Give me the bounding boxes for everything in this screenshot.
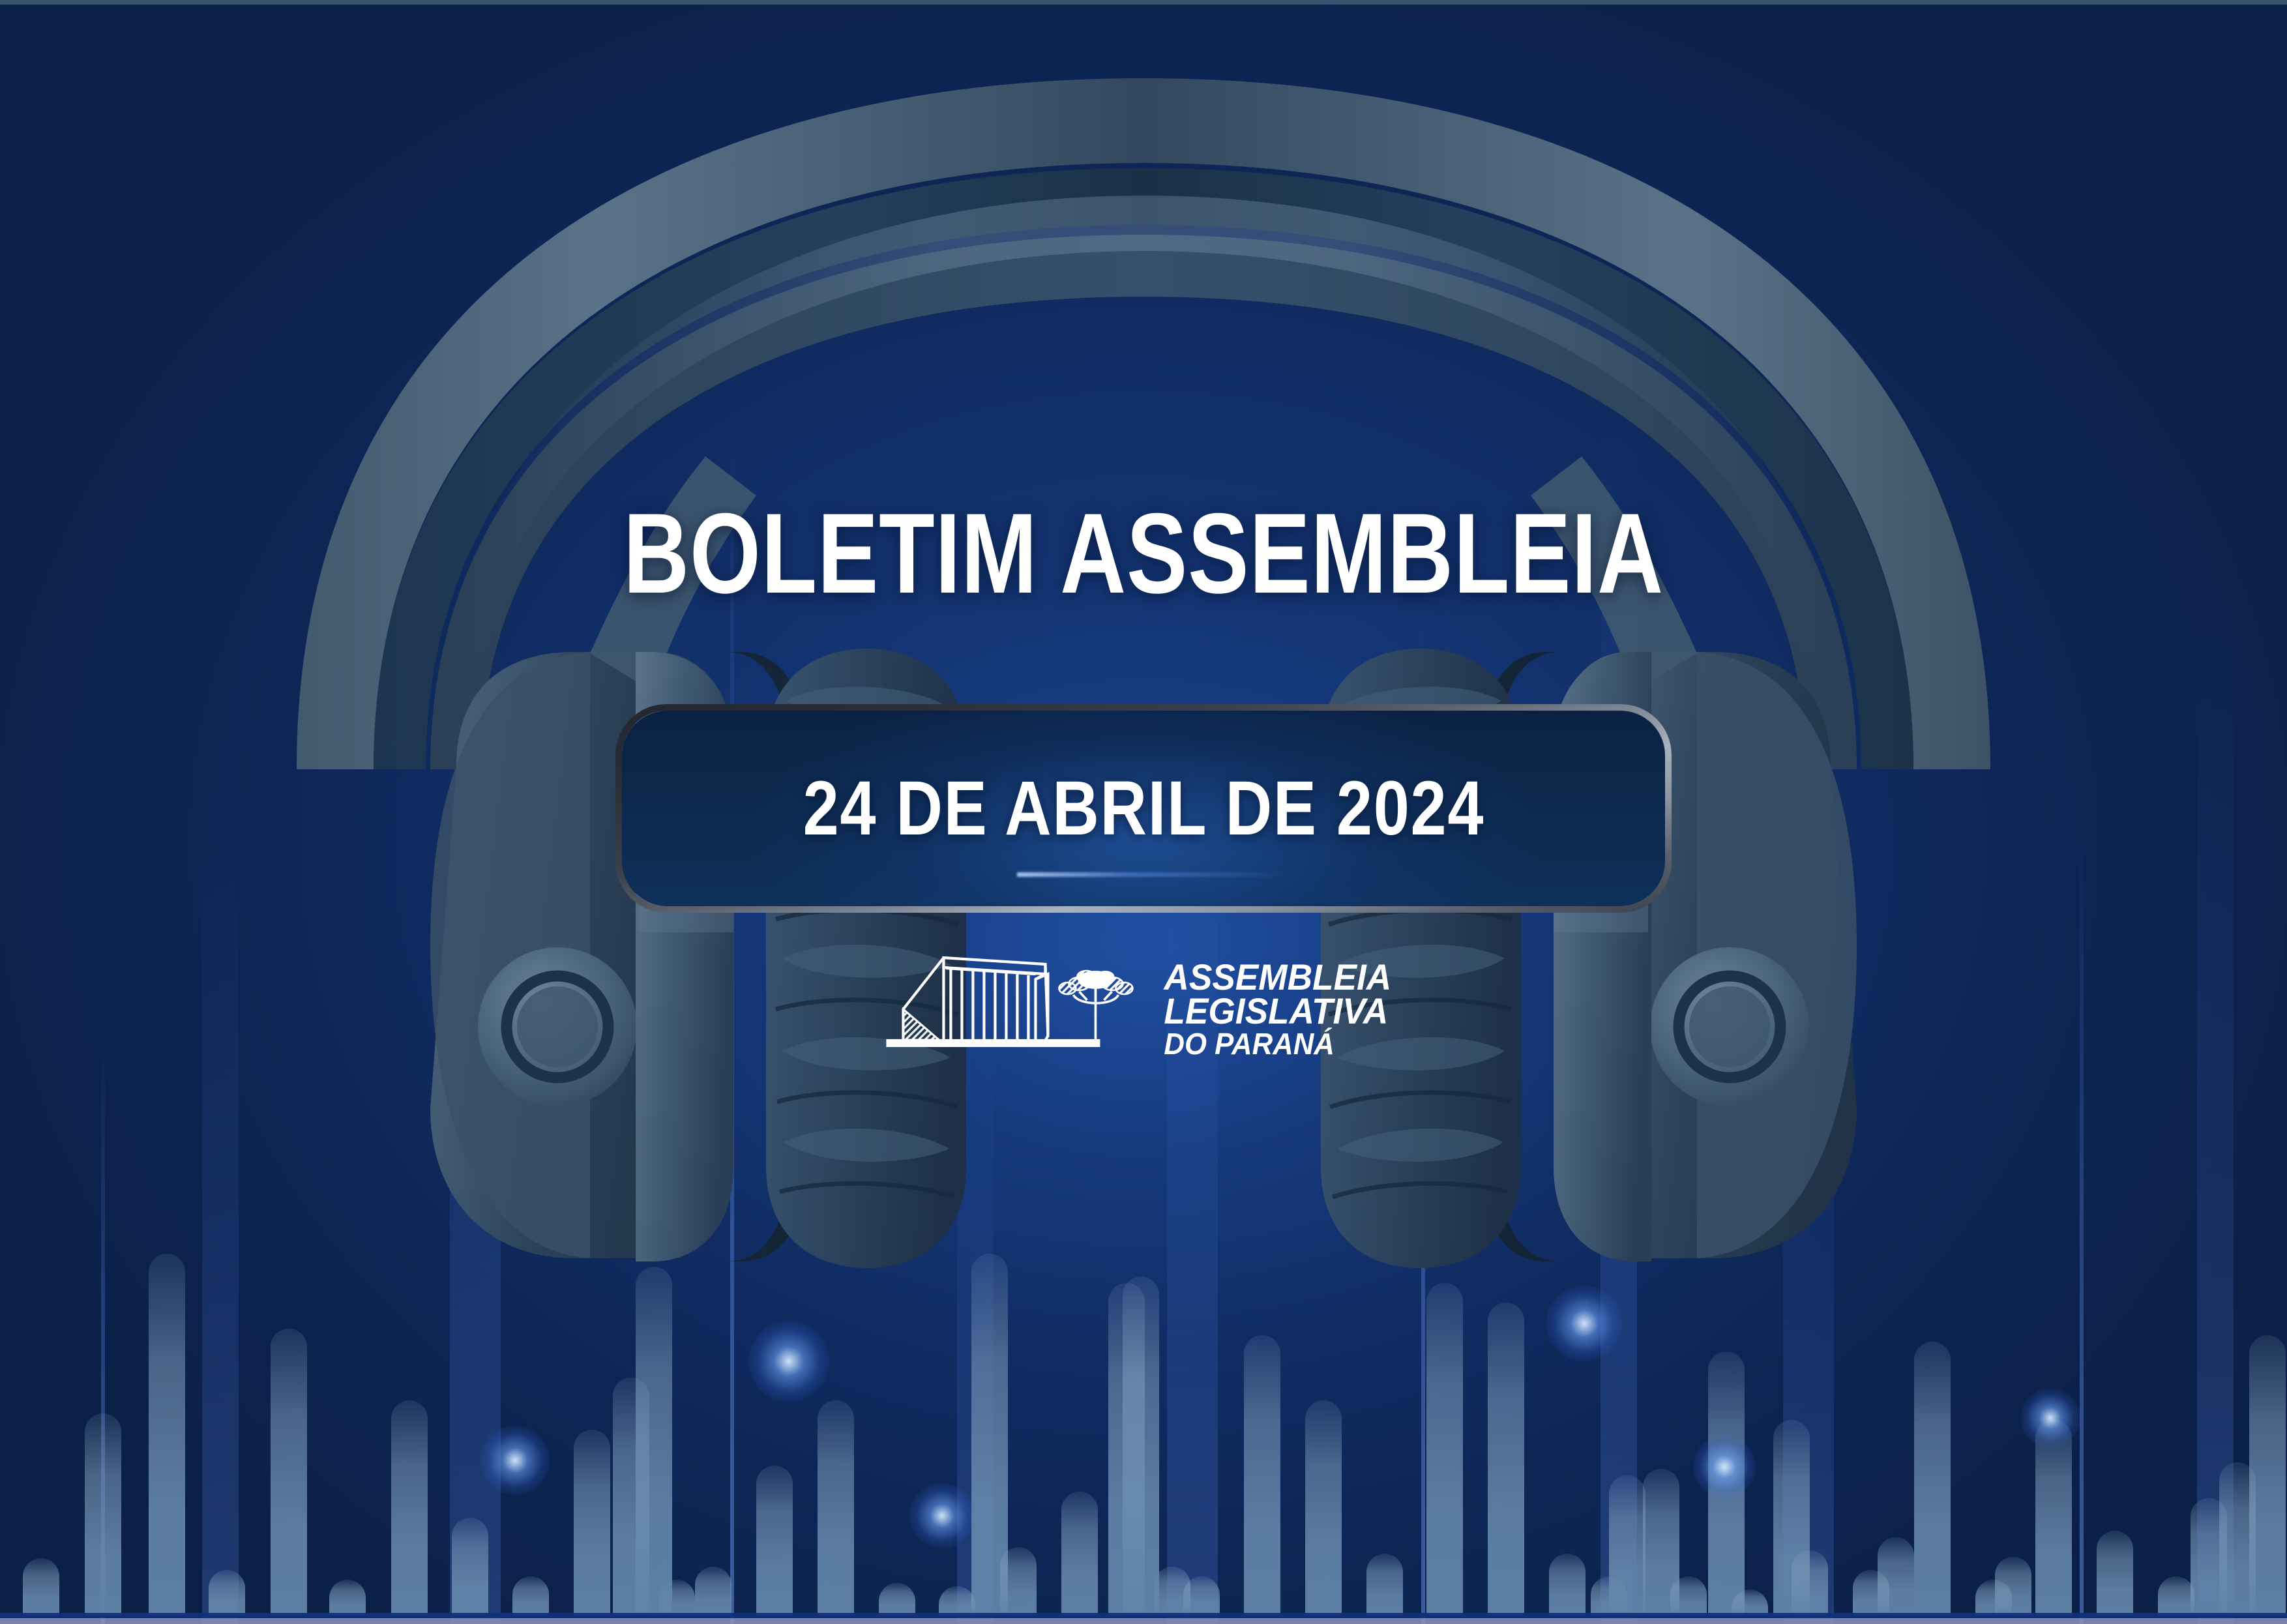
equalizer-bar bbox=[1708, 1351, 1745, 1616]
equalizer-bar bbox=[2097, 1531, 2133, 1616]
equalizer-bar bbox=[1609, 1475, 1645, 1616]
equalizer-bar bbox=[1670, 1576, 1707, 1616]
page-title: BOLETIM ASSEMBLEIA bbox=[229, 497, 2058, 611]
badge-glow-beam-right bbox=[1017, 872, 1291, 877]
equalizer-bar bbox=[1366, 1554, 1403, 1616]
date-badge-border bbox=[615, 704, 1672, 913]
equalizer-bar bbox=[2035, 1420, 2072, 1616]
equalizer-bar bbox=[1549, 1554, 1586, 1616]
equalizer-bar bbox=[2158, 1576, 2194, 1616]
equalizer-bar bbox=[271, 1329, 307, 1616]
equalizer-bar bbox=[756, 1466, 793, 1616]
equalizer-bar bbox=[452, 1518, 488, 1616]
equalizer-bar bbox=[1914, 1342, 1951, 1616]
equalizer-bar bbox=[391, 1400, 428, 1616]
equalizer-bar bbox=[1305, 1400, 1342, 1616]
assembleia-logo: ASSEMBLEIA LEGISLATIVA DO PARANÁ bbox=[883, 944, 1403, 1074]
equalizer-bar bbox=[1792, 1550, 1828, 1616]
equalizer-bar bbox=[1488, 1303, 1524, 1616]
equalizer-bar bbox=[1061, 1492, 1098, 1616]
equalizer-bar bbox=[939, 1586, 975, 1616]
equalizer-bar bbox=[818, 1400, 854, 1616]
audio-equalizer-bars bbox=[0, 1168, 2287, 1624]
equalizer-bar bbox=[209, 1570, 245, 1616]
equalizer-bar bbox=[512, 1576, 549, 1616]
equalizer-bar bbox=[1853, 1570, 1889, 1616]
equalizer-bar bbox=[85, 1413, 121, 1616]
logo-line-2: LEGISLATIVA bbox=[1164, 994, 1391, 1028]
assembleia-building-icon bbox=[883, 944, 1139, 1074]
equalizer-bar bbox=[879, 1583, 915, 1616]
date-badge: 24 DE ABRIL DE 2024 bbox=[615, 704, 1672, 913]
equalizer-bar bbox=[574, 1430, 610, 1616]
logo-line-1: ASSEMBLEIA bbox=[1164, 960, 1391, 994]
equalizer-bar bbox=[636, 1267, 672, 1616]
equalizer-bar bbox=[2219, 1462, 2256, 1616]
equalizer-bar bbox=[1426, 1283, 1463, 1616]
logo-line-3: DO PARANÁ bbox=[1164, 1030, 1391, 1058]
equalizer-baseline-light bbox=[0, 1618, 2287, 1624]
equalizer-bar bbox=[1975, 1580, 2012, 1616]
equalizer-bar bbox=[1000, 1547, 1037, 1616]
poster-canvas: BOLETIM ASSEMBLEIA 24 DE ABRIL DE 2024 bbox=[0, 0, 2287, 1624]
equalizer-bar bbox=[695, 1567, 731, 1616]
equalizer-bar bbox=[329, 1580, 366, 1616]
equalizer-bar bbox=[149, 1254, 185, 1616]
assembleia-logo-text: ASSEMBLEIA LEGISLATIVA DO PARANÁ bbox=[1164, 960, 1391, 1058]
equalizer-bar bbox=[1244, 1335, 1280, 1616]
equalizer-bar bbox=[23, 1558, 59, 1616]
equalizer-bar bbox=[1123, 1277, 1159, 1616]
equalizer-bar bbox=[1183, 1576, 1220, 1616]
